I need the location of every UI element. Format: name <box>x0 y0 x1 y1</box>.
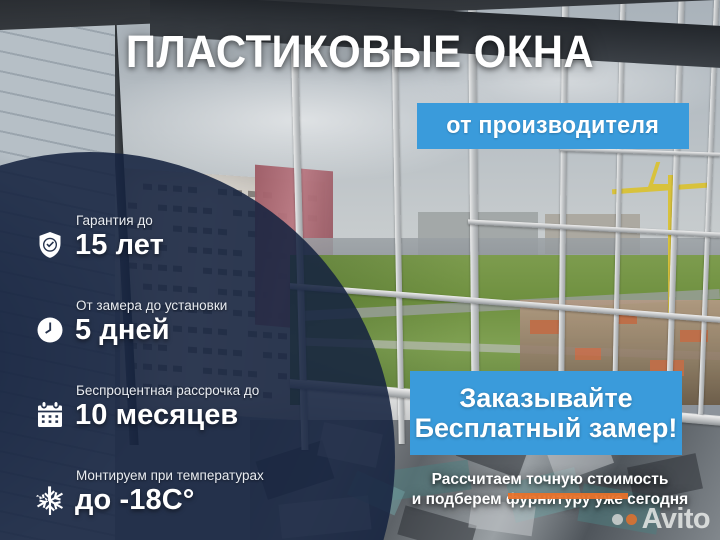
feature-value: 15 лет <box>75 229 164 262</box>
avito-dots-icon <box>612 514 637 525</box>
watermark-bar <box>508 493 628 499</box>
feature-list: Гарантия до15 летОт замера до установки5… <box>30 205 330 540</box>
snowflake-icon <box>34 484 66 516</box>
feature-item: Монтируем при температурахдо -18C° <box>30 460 330 540</box>
avito-watermark-label: Avito <box>642 505 710 534</box>
clock-icon <box>34 314 66 346</box>
feature-value: 10 месяцев <box>75 399 238 432</box>
feature-caption: Беспроцентная рассрочка до <box>76 383 259 398</box>
cta-line-1: Заказывайте <box>459 384 632 412</box>
manufacturer-badge-label: от производителя <box>447 112 660 140</box>
feature-caption: Гарантия до <box>76 213 153 228</box>
advertisement-banner: ПЛАСТИКОВЫЕ ОКНА от производителя Гарант… <box>0 0 720 540</box>
feature-item: Гарантия до15 лет <box>30 205 330 290</box>
content-layer: ПЛАСТИКОВЫЕ ОКНА от производителя Гарант… <box>0 0 720 540</box>
feature-value: до -18C° <box>75 484 194 517</box>
sub-caption-line-1: Рассчитаем точную стоимость <box>395 470 705 490</box>
cta-line-2: Бесплатный замер! <box>415 414 678 442</box>
feature-caption: От замера до установки <box>76 298 227 313</box>
cta-block[interactable]: Заказывайте Бесплатный замер! <box>410 371 682 455</box>
feature-item: Беспроцентная рассрочка до10 месяцев <box>30 375 330 460</box>
shield-check-icon <box>34 229 66 261</box>
feature-value: 5 дней <box>75 314 170 347</box>
feature-item: От замера до установки5 дней <box>30 290 330 375</box>
manufacturer-badge: от производителя <box>417 103 689 149</box>
feature-caption: Монтируем при температурах <box>76 468 264 483</box>
calendar-icon <box>34 399 66 431</box>
avito-watermark: Avito <box>612 505 710 534</box>
page-title: ПЛАСТИКОВЫЕ ОКНА <box>25 29 695 74</box>
